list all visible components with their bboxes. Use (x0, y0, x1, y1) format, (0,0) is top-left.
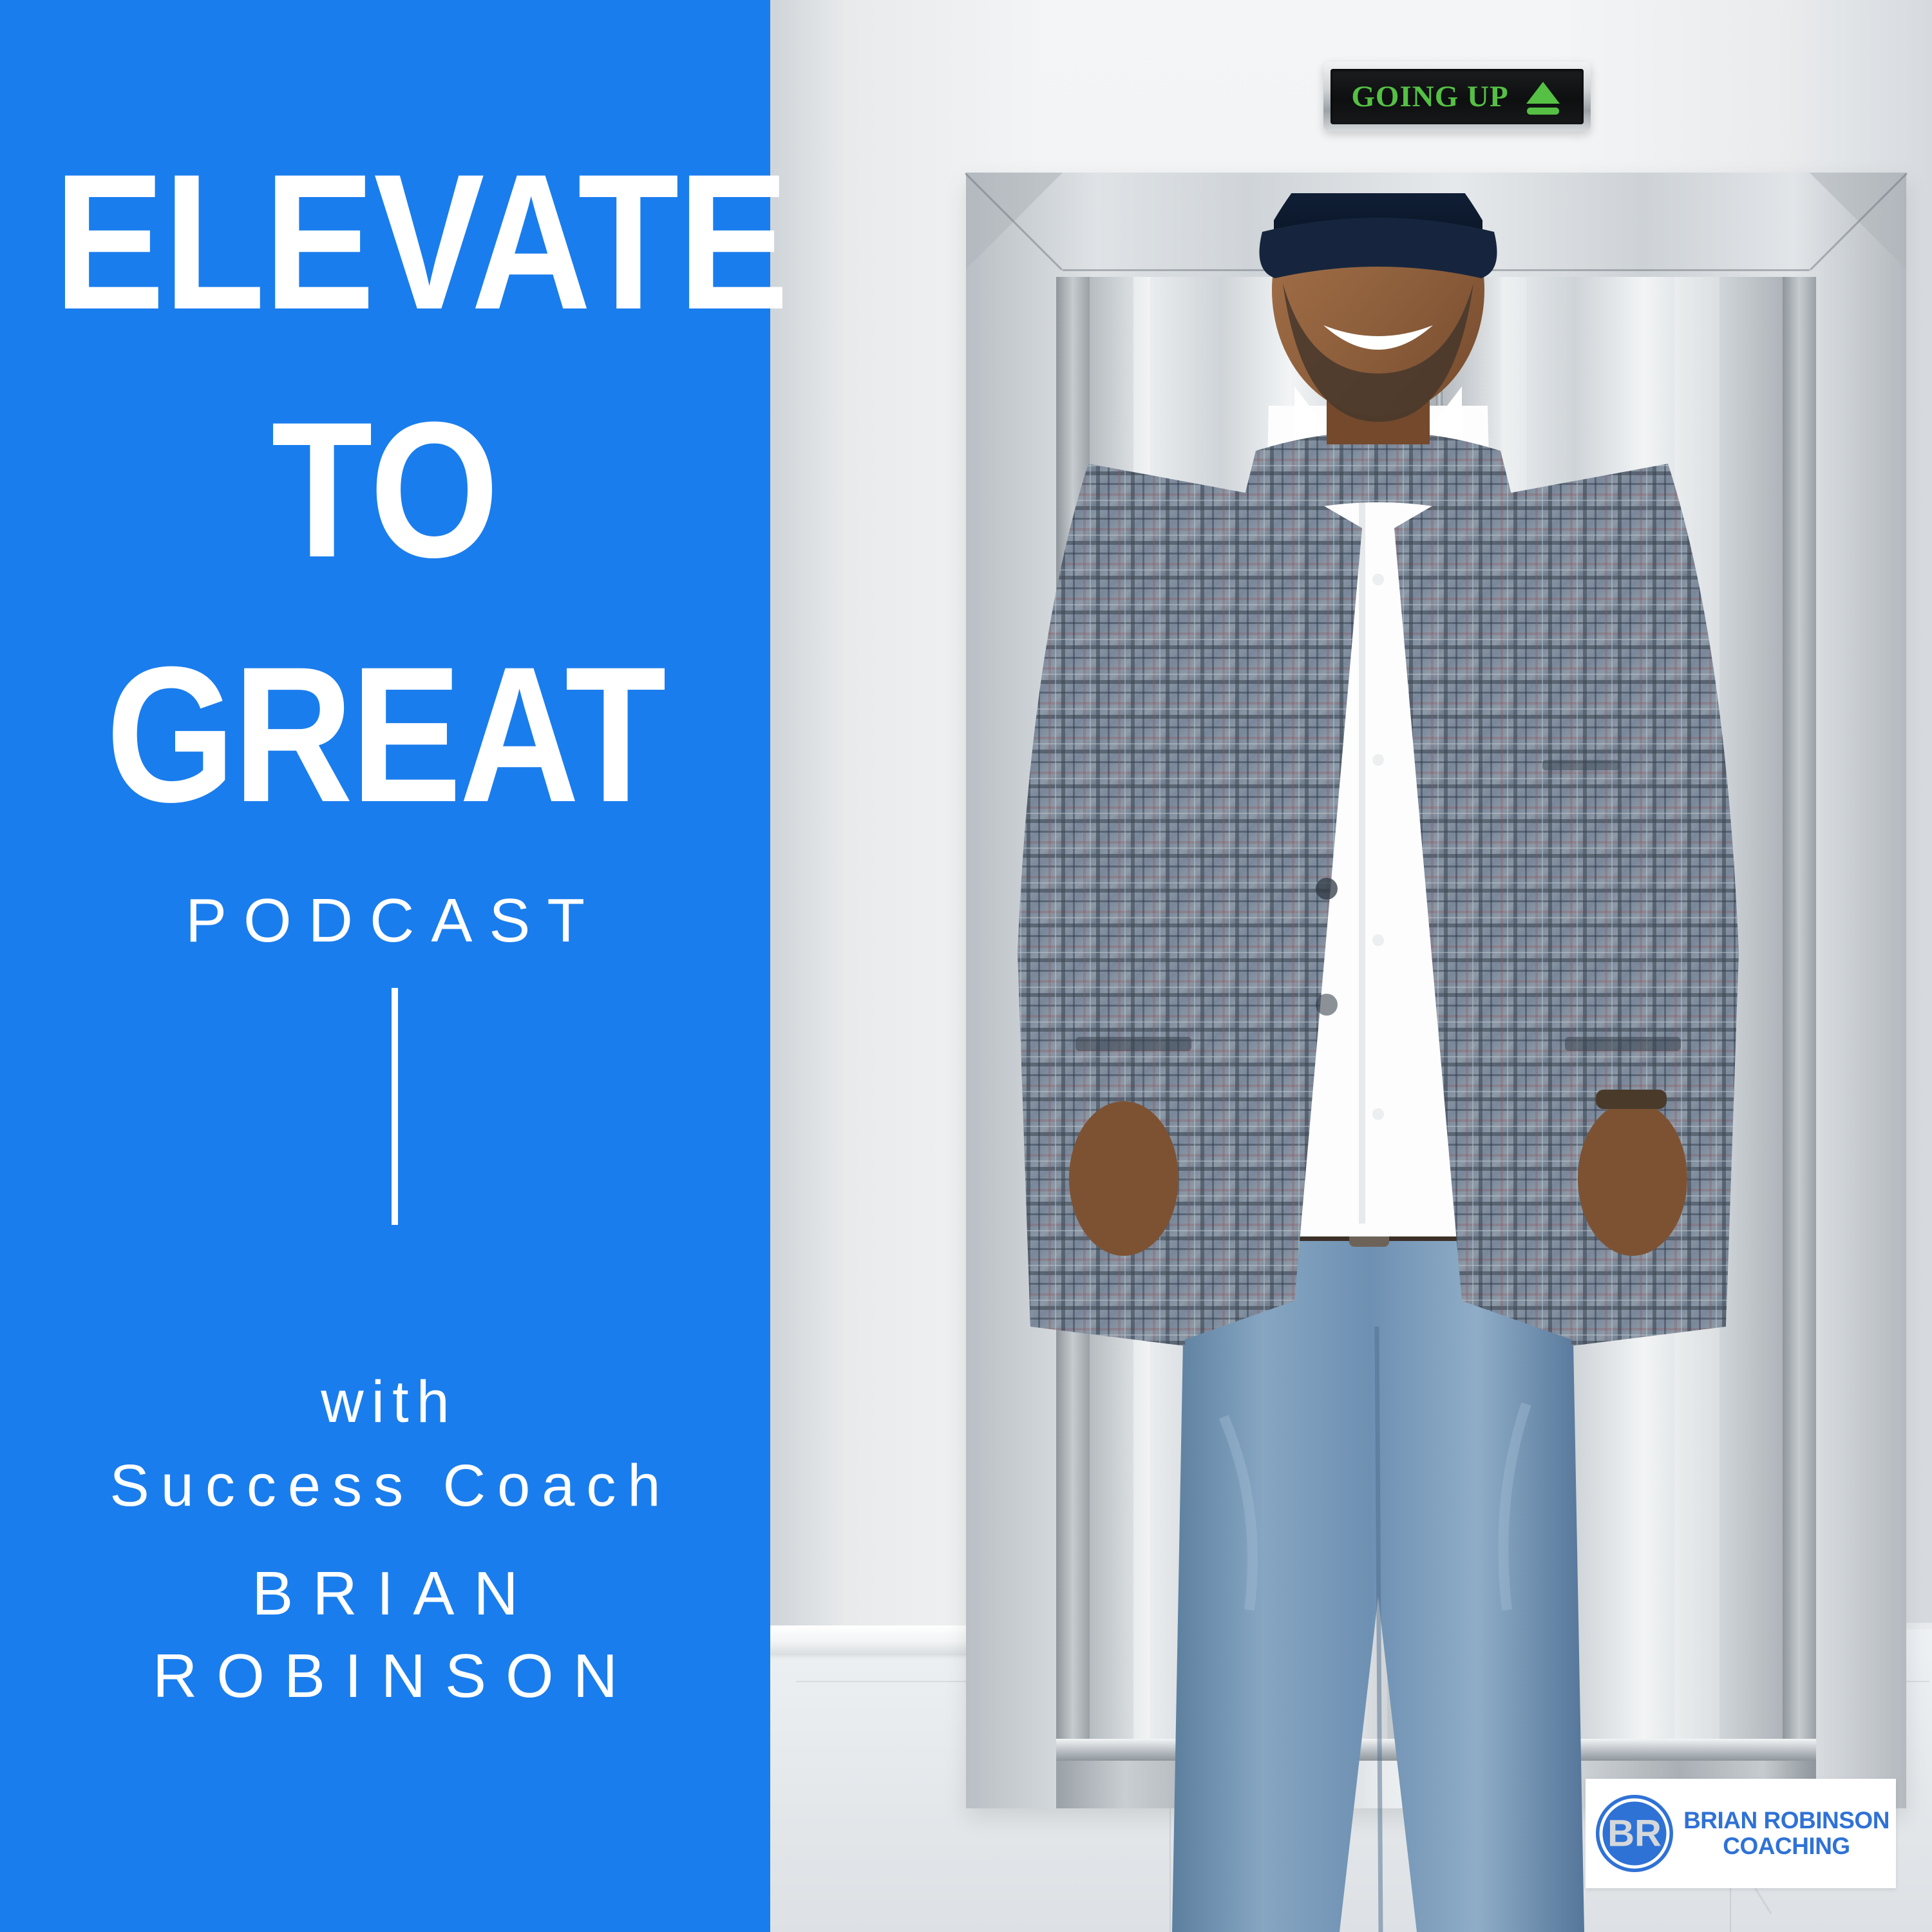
podcast-cover-art: GOING UP (0, 0, 1932, 1932)
sign-label: GOING UP (1351, 82, 1508, 112)
blazer-pocket-right (1565, 1037, 1681, 1051)
wristwatch (1596, 1090, 1667, 1109)
brand-name-line1: BRIAN ROBINSON (1683, 1807, 1889, 1833)
blazer-button (1316, 994, 1338, 1016)
vertical-divider-rule (392, 988, 398, 1225)
br-monogram-icon: BR (1595, 1794, 1674, 1873)
blazer-pocket-left (1075, 1037, 1191, 1051)
with-label: with (0, 1368, 770, 1436)
hand-left (1069, 1101, 1179, 1256)
hand-right (1578, 1101, 1687, 1256)
door-jamb-right (1783, 277, 1816, 1758)
up-triangle-bar-icon (1523, 77, 1563, 117)
blazer-chest-pocket (1542, 760, 1620, 770)
brand-name-line2: COACHING (1683, 1833, 1889, 1859)
title-line-to: TO (54, 412, 717, 567)
title-line-elevate: ELEVATE (54, 164, 717, 319)
sign-screen: GOING UP (1331, 69, 1584, 124)
subtitle-podcast: PODCAST (0, 885, 770, 956)
going-up-sign: GOING UP (1323, 62, 1591, 131)
blazer-button (1316, 878, 1338, 900)
host-first-name: BRIAN (0, 1558, 770, 1629)
title-panel: ELEVATE TO GREAT PODCAST with Success Co… (0, 0, 770, 1932)
br-monogram-text: BR (1607, 1813, 1662, 1855)
host-last-name: ROBINSON (0, 1641, 770, 1712)
title-line-great: GREAT (54, 657, 717, 811)
brand-name: BRIAN ROBINSON COACHING (1683, 1808, 1889, 1859)
host-photo-subject (992, 193, 1765, 1932)
brand-logo[interactable]: BR BRIAN ROBINSON COACHING (1586, 1779, 1896, 1888)
role-label: Success Coach (0, 1452, 770, 1520)
